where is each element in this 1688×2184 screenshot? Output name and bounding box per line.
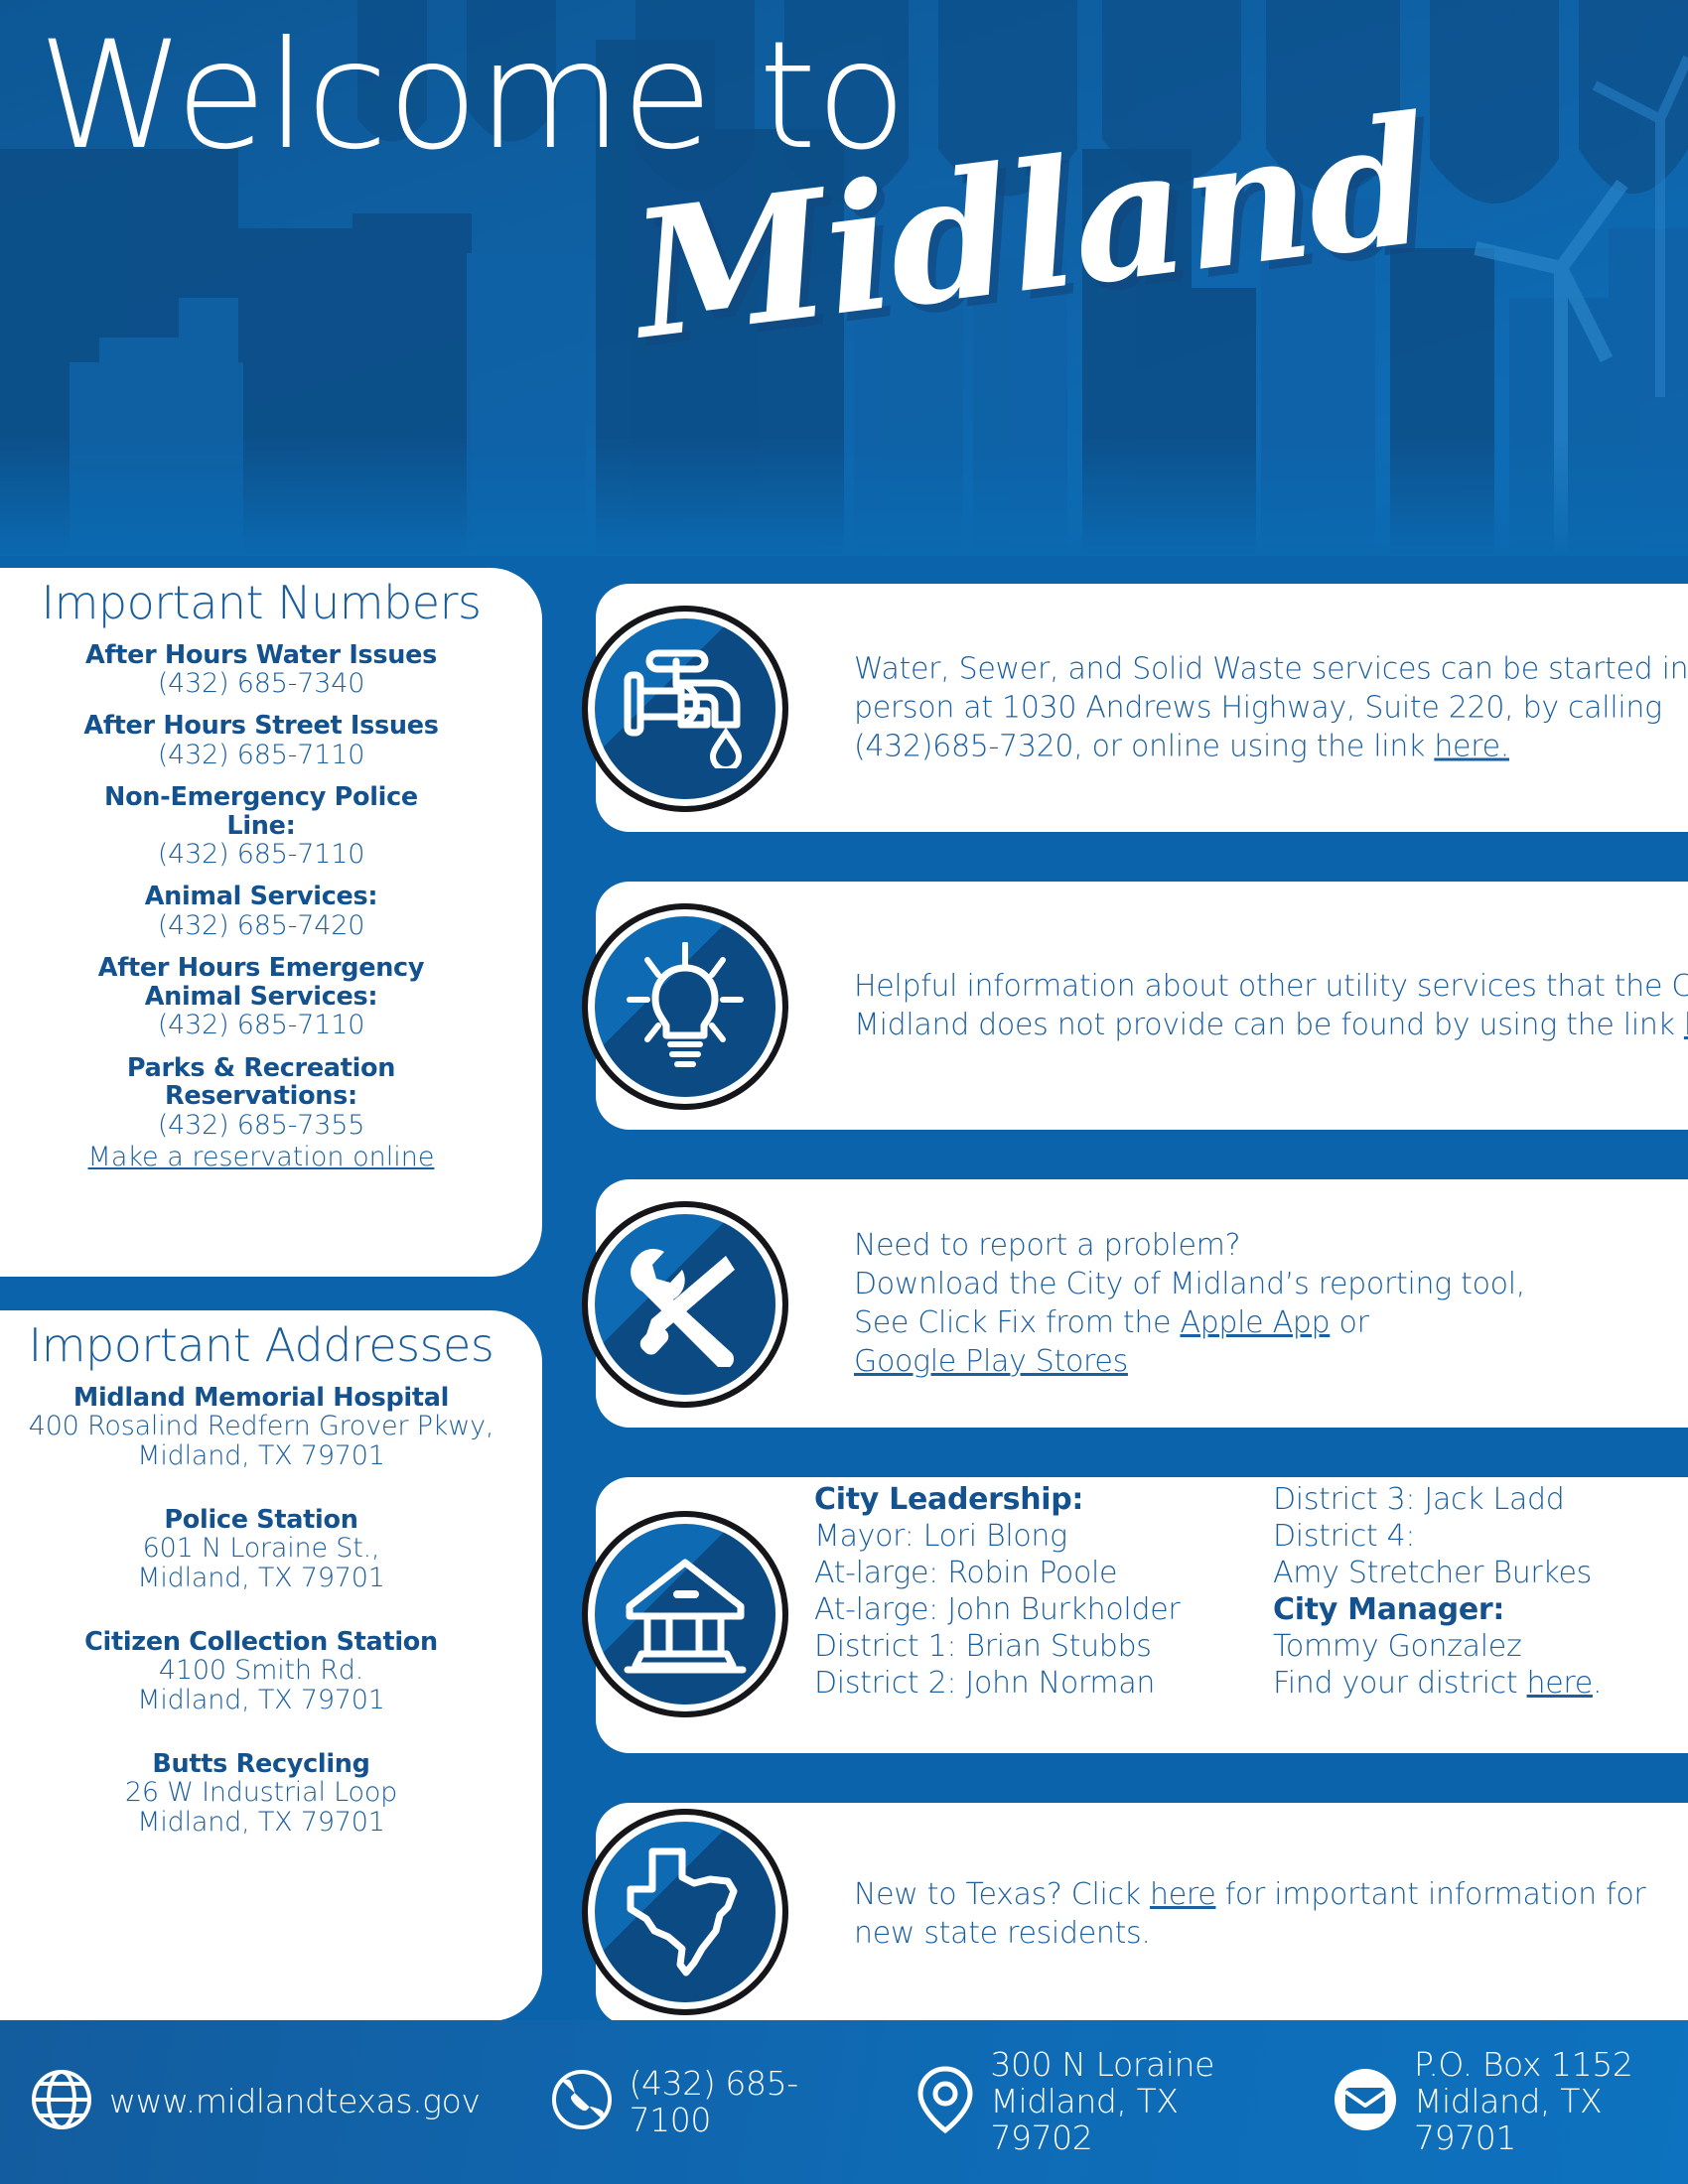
hero-fade bbox=[0, 437, 1688, 556]
footer-website-text: www.midlandtexas.gov bbox=[109, 2084, 481, 2120]
city-leadership-heading: City Leadership: bbox=[814, 1481, 1231, 1518]
number-entry: After Hours Emergency Animal Services: (… bbox=[4, 954, 518, 1040]
number-entry: After Hours Water Issues (432) 685-7340 bbox=[4, 641, 518, 700]
texas-state-icon-badge bbox=[588, 1815, 782, 2009]
new-to-texas-prefix: New to Texas? Click bbox=[854, 1877, 1150, 1912]
important-addresses-title: Important Addresses bbox=[4, 1320, 518, 1371]
location-pin-icon bbox=[916, 2065, 974, 2139]
address-line-1: 4100 Smith Rd. bbox=[4, 1656, 518, 1686]
number-entry: Parks & Recreation Reservations: (432) 6… bbox=[4, 1054, 518, 1172]
number-label: Parks & Recreation Reservations: bbox=[97, 1054, 425, 1111]
important-numbers-card: Important Numbers After Hours Water Issu… bbox=[0, 568, 542, 1277]
leadership-row: District 4: bbox=[1273, 1518, 1670, 1555]
apple-app-link[interactable]: Apple App bbox=[1180, 1305, 1330, 1340]
report-line-3: See Click Fix from the Apple App or bbox=[854, 1303, 1688, 1342]
footer-pobox-item[interactable]: P.O. Box 1152 Midland, TX 79701 bbox=[1333, 2047, 1688, 2157]
make-a-reservation-link[interactable]: Make a reservation online bbox=[88, 1142, 435, 1172]
city-leadership-columns: City Leadership: Mayor: Lori Blong At-la… bbox=[814, 1481, 1688, 1702]
report-line-1: Need to report a problem? bbox=[854, 1226, 1688, 1265]
address-line-2: Midland, TX 79701 bbox=[4, 1564, 518, 1593]
footer-website-item[interactable]: www.midlandtexas.gov bbox=[30, 2068, 481, 2136]
faucet-icon bbox=[620, 649, 751, 768]
leadership-row: Mayor: Lori Blong bbox=[814, 1518, 1231, 1555]
address-entry: Police Station 601 N Loraine St., Midlan… bbox=[4, 1506, 518, 1594]
utility-here-link[interactable]: here. bbox=[1684, 1008, 1688, 1042]
poster-root: Welcome to Midland Important Numbers Aft… bbox=[0, 0, 1688, 2184]
number-label: Animal Services: bbox=[4, 883, 518, 911]
phone-icon bbox=[550, 2068, 614, 2136]
report-line-3-suffix: or bbox=[1330, 1305, 1368, 1340]
tools-icon bbox=[623, 1242, 748, 1367]
address-line-2: Midland, TX 79701 bbox=[4, 1686, 518, 1715]
number-value[interactable]: (432) 685-7110 bbox=[4, 840, 518, 870]
find-your-district-link[interactable]: here bbox=[1527, 1666, 1593, 1701]
address-label: Midland Memorial Hospital bbox=[4, 1384, 518, 1413]
leadership-row: At-large: Robin Poole bbox=[814, 1555, 1231, 1591]
water-services-body: Water, Sewer, and Solid Waste services c… bbox=[854, 652, 1688, 764]
new-to-texas-text: New to Texas? Click here for important i… bbox=[854, 1875, 1688, 1953]
report-line-2: Download the City of Midland’s reporting… bbox=[854, 1265, 1688, 1303]
report-line-3-prefix: See Click Fix from the bbox=[854, 1305, 1180, 1340]
other-utilities-text: Helpful information about other utility … bbox=[854, 967, 1688, 1044]
number-value[interactable]: (432) 685-7420 bbox=[4, 911, 518, 941]
water-here-link[interactable]: here. bbox=[1434, 730, 1509, 764]
leadership-row: Tommy Gonzalez bbox=[1273, 1628, 1670, 1665]
number-value[interactable]: (432) 685-7110 bbox=[4, 1011, 518, 1040]
faucet-icon-badge bbox=[588, 612, 782, 806]
courthouse-icon-badge bbox=[588, 1517, 782, 1711]
address-line-1: 601 N Loraine St., bbox=[4, 1534, 518, 1564]
report-problem-text: Need to report a problem? Download the C… bbox=[854, 1226, 1688, 1381]
address-line-1: 400 Rosalind Redfern Grover Pkwy, bbox=[4, 1412, 518, 1441]
find-your-district-row: Find your district here. bbox=[1273, 1665, 1670, 1702]
address-label: Butts Recycling bbox=[4, 1750, 518, 1779]
important-numbers-title: Important Numbers bbox=[4, 578, 518, 628]
leadership-column-right: District 3: Jack Ladd District 4: Amy St… bbox=[1273, 1481, 1670, 1702]
address-line-2: Midland, TX 79701 bbox=[4, 1808, 518, 1838]
number-value[interactable]: (432) 685-7355 bbox=[4, 1111, 518, 1141]
leadership-row: District 3: Jack Ladd bbox=[1273, 1481, 1670, 1518]
important-addresses-card: Important Addresses Midland Memorial Hos… bbox=[0, 1310, 542, 2021]
address-label: Police Station bbox=[4, 1506, 518, 1535]
address-line-1: 26 W Industrial Loop bbox=[4, 1778, 518, 1808]
number-value[interactable]: (432) 685-7340 bbox=[4, 669, 518, 699]
number-label: After Hours Water Issues bbox=[4, 641, 518, 670]
footer-address-item[interactable]: 300 N Loraine Midland, TX 79702 bbox=[916, 2047, 1265, 2157]
number-entry: Animal Services: (432) 685-7420 bbox=[4, 883, 518, 941]
globe-icon bbox=[30, 2068, 93, 2136]
footer-address-text: 300 N Loraine Midland, TX 79702 bbox=[990, 2047, 1265, 2157]
find-your-district-prefix: Find your district bbox=[1273, 1666, 1527, 1701]
lightbulb-icon bbox=[626, 942, 745, 1071]
leadership-row: Amy Stretcher Burkes bbox=[1273, 1555, 1670, 1591]
address-entry: Citizen Collection Station 4100 Smith Rd… bbox=[4, 1628, 518, 1716]
texas-state-icon bbox=[625, 1845, 746, 1979]
find-your-district-suffix: . bbox=[1593, 1666, 1602, 1701]
number-entry: Non-Emergency Police Line: (432) 685-711… bbox=[4, 783, 518, 870]
envelope-icon bbox=[1333, 2067, 1398, 2137]
footer-contact-bar: www.midlandtexas.gov (432) 685-7100 300 … bbox=[0, 2020, 1688, 2184]
hero-banner: Welcome to Midland bbox=[0, 0, 1688, 556]
report-line-4: Google Play Stores bbox=[854, 1342, 1688, 1381]
leadership-column-left: City Leadership: Mayor: Lori Blong At-la… bbox=[814, 1481, 1231, 1702]
google-play-stores-link[interactable]: Google Play Stores bbox=[854, 1344, 1128, 1379]
other-utilities-body: Helpful information about other utility … bbox=[854, 969, 1688, 1042]
tools-icon-badge bbox=[588, 1207, 782, 1402]
address-label: Citizen Collection Station bbox=[4, 1628, 518, 1657]
courthouse-icon bbox=[622, 1555, 749, 1674]
number-value[interactable]: (432) 685-7110 bbox=[4, 741, 518, 770]
texas-here-link[interactable]: here bbox=[1150, 1877, 1215, 1912]
footer-pobox-text: P.O. Box 1152 Midland, TX 79701 bbox=[1414, 2047, 1688, 2157]
water-services-text: Water, Sewer, and Solid Waste services c… bbox=[854, 650, 1688, 766]
address-line-2: Midland, TX 79701 bbox=[4, 1441, 518, 1471]
number-label: After Hours Street Issues bbox=[4, 712, 518, 741]
footer-phone-item[interactable]: (432) 685-7100 bbox=[550, 2066, 858, 2139]
footer-phone-text: (432) 685-7100 bbox=[630, 2066, 858, 2139]
address-entry: Midland Memorial Hospital 400 Rosalind R… bbox=[4, 1384, 518, 1472]
lightbulb-icon-badge bbox=[588, 909, 782, 1104]
number-entry: After Hours Street Issues (432) 685-7110 bbox=[4, 712, 518, 770]
number-label: Non-Emergency Police Line: bbox=[92, 783, 430, 840]
leadership-row: At-large: John Burkholder bbox=[814, 1591, 1231, 1628]
leadership-row: District 1: Brian Stubbs bbox=[814, 1628, 1231, 1665]
number-label: After Hours Emergency Animal Services: bbox=[77, 954, 445, 1011]
address-entry: Butts Recycling 26 W Industrial Loop Mid… bbox=[4, 1750, 518, 1839]
hero-welcome-text: Welcome to bbox=[38, 22, 906, 171]
hero-midland-wordmark-wrap: Midland bbox=[635, 174, 1529, 432]
leadership-row: District 2: John Norman bbox=[814, 1665, 1231, 1702]
city-manager-heading: City Manager: bbox=[1273, 1591, 1670, 1628]
